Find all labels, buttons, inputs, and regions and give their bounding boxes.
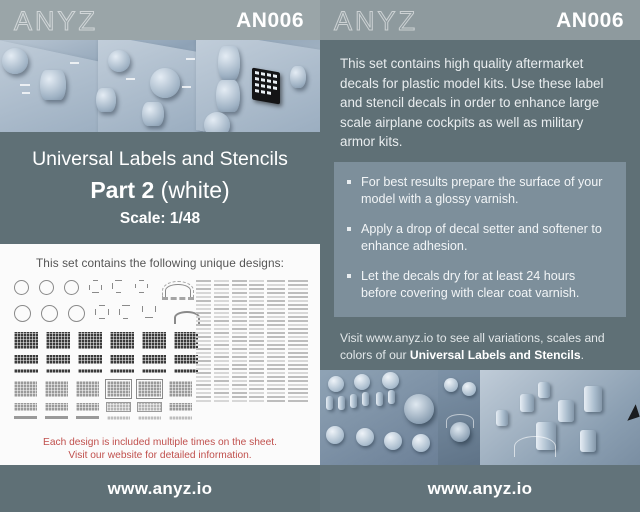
design-panel-light-framed bbox=[107, 381, 130, 397]
product-packaging-spread: ANYZ AN006 bbox=[0, 0, 640, 512]
design-panel-dark bbox=[110, 332, 134, 349]
stencil-text-columns bbox=[196, 280, 308, 438]
design-panel-dark bbox=[110, 355, 134, 364]
photo-tile bbox=[480, 370, 640, 465]
design-panel-light-framed bbox=[138, 381, 161, 397]
right-footer-bar: www.anyz.io bbox=[320, 465, 640, 512]
design-segmented-circle bbox=[112, 280, 125, 293]
design-circle bbox=[68, 305, 85, 322]
design-strip-dark bbox=[110, 369, 134, 373]
design-strip-dark bbox=[174, 369, 198, 373]
design-panel-light bbox=[45, 381, 68, 397]
info-panel: This set contains high quality aftermark… bbox=[320, 40, 640, 370]
anyz-wordmark-icon: ANYZ bbox=[334, 6, 418, 37]
list-item: Apply a drop of decal setter and softene… bbox=[344, 221, 614, 256]
design-strip-light bbox=[138, 416, 161, 420]
product-title-block: Universal Labels and Stencils Part 2 (wh… bbox=[0, 132, 320, 244]
left-footer-bar: www.anyz.io bbox=[0, 465, 320, 512]
decal-sheet-preview: This set contains the following unique d… bbox=[0, 244, 320, 468]
design-panel-dark bbox=[46, 355, 70, 364]
design-panel-dark bbox=[78, 332, 102, 349]
keypad-icon bbox=[252, 68, 280, 105]
instructions-list: For best results prepare the surface of … bbox=[344, 174, 614, 303]
design-strip-dark bbox=[46, 369, 70, 373]
stencil-text-column bbox=[196, 280, 211, 438]
design-panel-dark bbox=[14, 355, 38, 364]
footer-website[interactable]: www.anyz.io bbox=[108, 479, 213, 499]
product-code: AN006 bbox=[556, 9, 624, 33]
panel-arc-icon bbox=[514, 436, 556, 457]
visit-product-name: Universal Labels and Stencils bbox=[410, 348, 581, 362]
sheet-note: Each design is included multiple times o… bbox=[0, 436, 320, 462]
design-sunburst-outer bbox=[162, 281, 194, 300]
design-strip-dark bbox=[14, 369, 38, 373]
design-panel-light bbox=[76, 403, 99, 411]
design-panel-light-framed bbox=[107, 403, 130, 411]
photo-tile bbox=[438, 370, 480, 465]
design-circle bbox=[14, 280, 29, 295]
right-page: ANYZ AN006 This set contains high qualit… bbox=[320, 0, 640, 512]
anyz-wordmark-icon: ANYZ bbox=[14, 6, 98, 37]
sheet-note-line1: Each design is included multiple times o… bbox=[0, 436, 320, 449]
product-code: AN006 bbox=[236, 9, 304, 33]
sheet-heading: This set contains the following unique d… bbox=[0, 244, 320, 270]
product-scale: Scale: 1/48 bbox=[10, 210, 310, 228]
design-panel-dark bbox=[46, 332, 70, 349]
design-segmented-circle bbox=[89, 280, 102, 293]
product-description: This set contains high quality aftermark… bbox=[320, 40, 640, 162]
design-strip-light bbox=[14, 416, 37, 419]
design-segmented-circle bbox=[142, 305, 156, 319]
design-segmented-circle bbox=[119, 305, 132, 319]
photo-tile bbox=[320, 370, 438, 465]
stencil-text-column bbox=[214, 280, 229, 438]
variant-part: Part 2 bbox=[90, 177, 154, 203]
footer-website[interactable]: www.anyz.io bbox=[428, 479, 533, 499]
design-strip-light bbox=[76, 416, 99, 419]
instructions-panel: For best results prepare the surface of … bbox=[334, 162, 626, 317]
design-strip-light bbox=[107, 416, 130, 420]
left-header-bar: ANYZ AN006 bbox=[0, 0, 320, 40]
design-panel-light bbox=[169, 381, 192, 397]
design-strip-light bbox=[45, 416, 68, 419]
design-segmented-circle bbox=[135, 280, 148, 293]
left-page: ANYZ AN006 bbox=[0, 0, 320, 512]
list-item: Let the decals dry for at least 24 hours… bbox=[344, 268, 614, 303]
design-panel-light bbox=[14, 403, 37, 411]
design-panel-light bbox=[76, 381, 99, 397]
stencil-text-column bbox=[288, 280, 308, 438]
design-circle bbox=[14, 305, 31, 322]
sheet-note-line2: Visit our website for detailed informati… bbox=[0, 449, 320, 462]
design-panel-dark bbox=[78, 355, 102, 364]
design-panel-dark bbox=[142, 355, 166, 364]
right-header-bar: ANYZ AN006 bbox=[320, 0, 640, 40]
variant-color: (white) bbox=[161, 177, 230, 203]
design-segmented-circle bbox=[95, 305, 109, 319]
cockpit-photo-tiles bbox=[320, 370, 640, 465]
design-panel-dark bbox=[142, 332, 166, 349]
design-panel-dark bbox=[174, 332, 198, 349]
design-strip-light bbox=[169, 416, 192, 420]
design-circle bbox=[64, 280, 79, 295]
design-panel-dark bbox=[174, 355, 198, 364]
visit-suffix: . bbox=[581, 348, 584, 362]
design-circle bbox=[41, 305, 58, 322]
product-variant: Part 2 (white) bbox=[10, 174, 310, 206]
stencil-text-column bbox=[249, 280, 264, 438]
design-panel-light bbox=[45, 403, 68, 411]
design-panel-light bbox=[14, 381, 37, 397]
warning-marker-icon bbox=[623, 404, 639, 420]
product-name: Universal Labels and Stencils bbox=[10, 146, 310, 172]
list-item: For best results prepare the surface of … bbox=[344, 174, 614, 209]
design-grid bbox=[14, 280, 308, 440]
stencil-text-column bbox=[267, 280, 285, 438]
stencil-text-column bbox=[232, 280, 247, 438]
design-strip-dark bbox=[78, 369, 102, 373]
design-panel-light bbox=[169, 403, 192, 411]
visit-website-note: Visit www.anyz.io to see all variations,… bbox=[320, 317, 640, 364]
design-strip-dark bbox=[142, 369, 166, 373]
design-panel-light-framed bbox=[138, 403, 161, 411]
cockpit-photo-strip bbox=[0, 40, 320, 132]
design-panel-dark bbox=[14, 332, 38, 349]
design-circle bbox=[39, 280, 54, 295]
